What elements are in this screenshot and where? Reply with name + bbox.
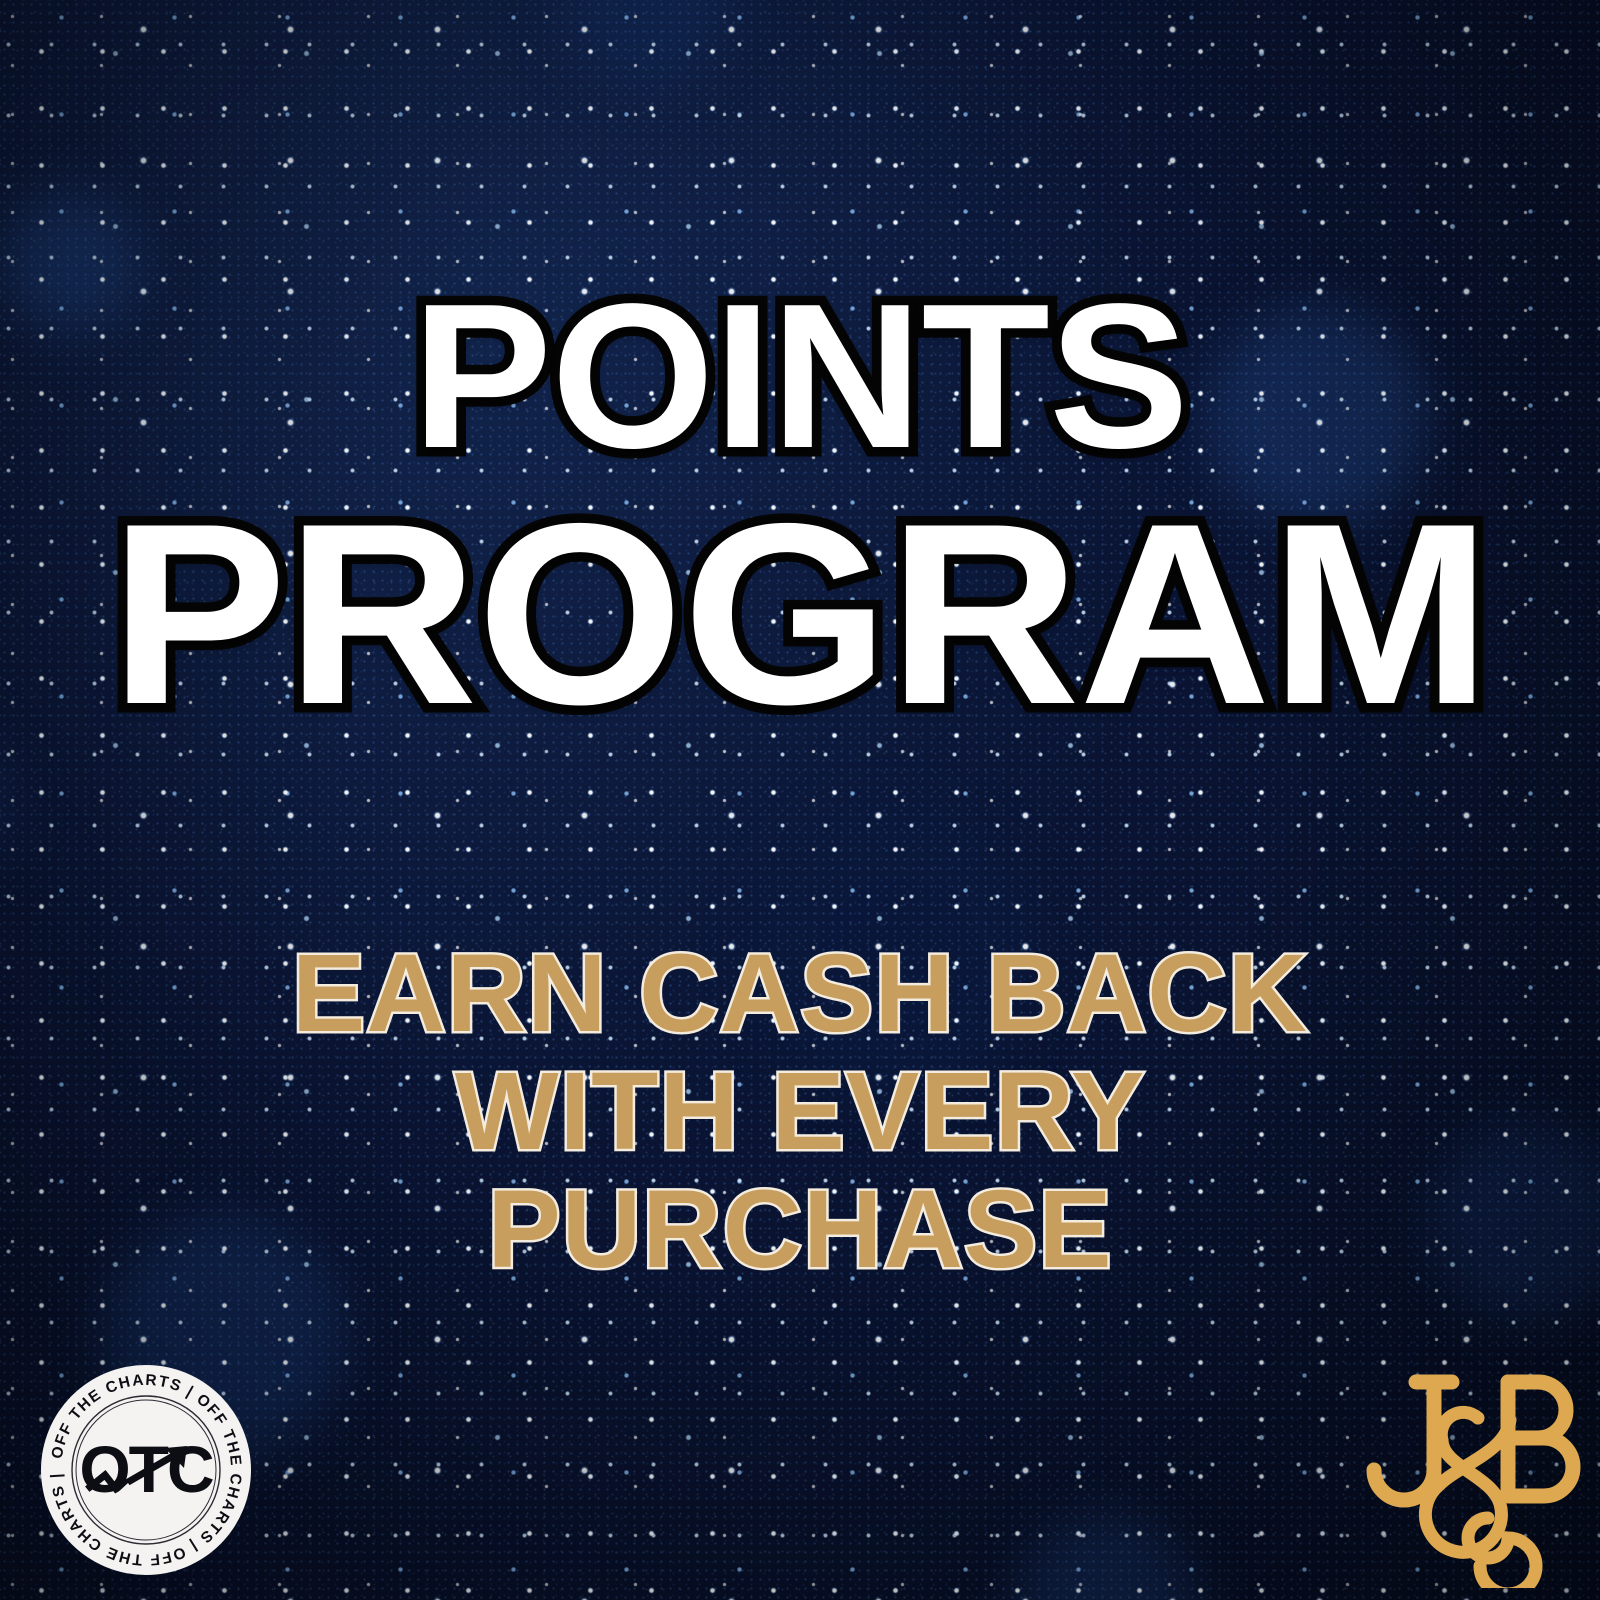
poster-canvas: POINTS PROGRAM EARN CASH BACK WITH EVERY… [0,0,1600,1600]
otc-badge-logo: OFF THE CHARTS | OFF THE CHARTS | OFF TH… [32,1356,260,1584]
subheadline-line-2: WITH EVERY [0,1056,1600,1168]
otc-monogram: OTC [79,1432,213,1507]
subheadline-line-3: PURCHASE [0,1174,1600,1286]
headline-group: POINTS PROGRAM [0,278,1600,737]
headline-line-1: POINTS [0,278,1600,476]
subheadline-group: EARN CASH BACK WITH EVERY PURCHASE [0,938,1600,1287]
headline-line-2: PROGRAM [0,490,1600,738]
jb-monogram-logo [1360,1348,1590,1588]
subheadline-line-1: EARN CASH BACK [0,938,1600,1050]
jb-letter-b [1508,1382,1573,1496]
